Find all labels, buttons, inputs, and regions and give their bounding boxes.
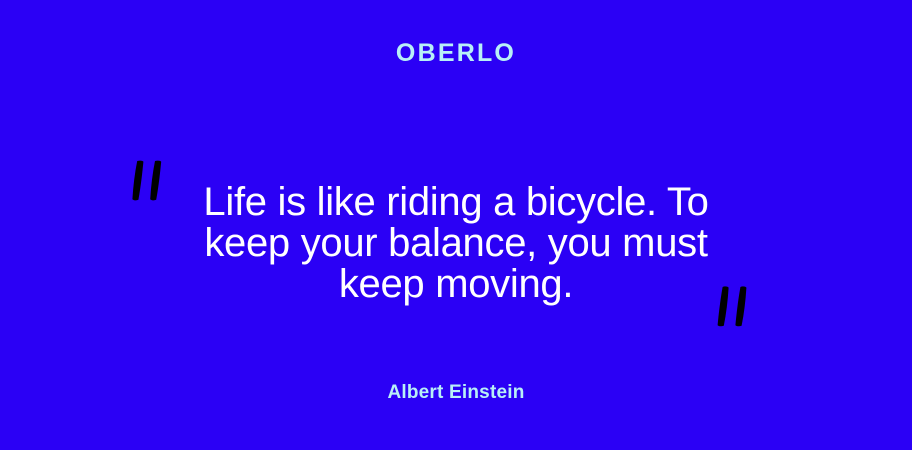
quote-line: Life is like riding a bicycle. To xyxy=(156,182,756,223)
quote-card: OBERLO Life is like riding a bicycle. To… xyxy=(0,0,912,450)
quote-line: keep moving. xyxy=(156,264,756,305)
quote-author: Albert Einstein xyxy=(0,381,912,405)
quote-text: Life is like riding a bicycle. To keep y… xyxy=(156,182,756,305)
oberlo-logo: OBERLO xyxy=(0,38,912,68)
quote-line: keep your balance, you must xyxy=(156,223,756,264)
